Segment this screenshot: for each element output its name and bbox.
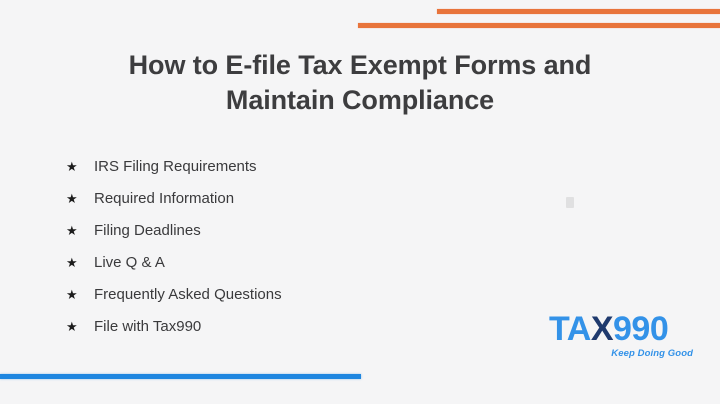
logo-text-990: 990 [613, 310, 668, 348]
list-item: ★ Frequently Asked Questions [66, 285, 282, 317]
star-icon: ★ [66, 189, 94, 209]
decorative-rule-orange-second [358, 23, 720, 28]
list-item: ★ IRS Filing Requirements [66, 157, 282, 189]
list-item: ★ Required Information [66, 189, 282, 221]
tax990-logo: TAX990 Keep Doing Good [549, 310, 695, 368]
star-icon: ★ [66, 317, 94, 337]
logo-wordmark: TAX990 [549, 310, 695, 348]
logo-text-x: X [591, 310, 613, 348]
agenda-item-label: Required Information [94, 189, 234, 209]
agenda-item-label: Live Q & A [94, 253, 165, 273]
agenda-item-label: File with Tax990 [94, 317, 201, 337]
slide-title-line-1: How to E-file Tax Exempt Forms and [40, 48, 680, 83]
agenda-item-label: IRS Filing Requirements [94, 157, 257, 177]
slide-title: How to E-file Tax Exempt Forms and Maint… [40, 48, 680, 118]
agenda-item-label: Filing Deadlines [94, 221, 201, 241]
list-item: ★ Live Q & A [66, 253, 282, 285]
slide-title-line-2: Maintain Compliance [40, 83, 680, 118]
cursor-artifact [566, 197, 574, 208]
star-icon: ★ [66, 221, 94, 241]
agenda-item-label: Frequently Asked Questions [94, 285, 282, 305]
star-icon: ★ [66, 157, 94, 177]
logo-tagline: Keep Doing Good [549, 348, 695, 360]
star-icon: ★ [66, 285, 94, 305]
decorative-rule-blue-bottom [0, 374, 361, 379]
presentation-slide: How to E-file Tax Exempt Forms and Maint… [0, 0, 720, 404]
list-item: ★ Filing Deadlines [66, 221, 282, 253]
logo-text-ta: TA [549, 310, 591, 348]
agenda-list: ★ IRS Filing Requirements ★ Required Inf… [66, 157, 282, 349]
list-item: ★ File with Tax990 [66, 317, 282, 349]
star-icon: ★ [66, 253, 94, 273]
decorative-rule-orange-top [437, 9, 720, 14]
